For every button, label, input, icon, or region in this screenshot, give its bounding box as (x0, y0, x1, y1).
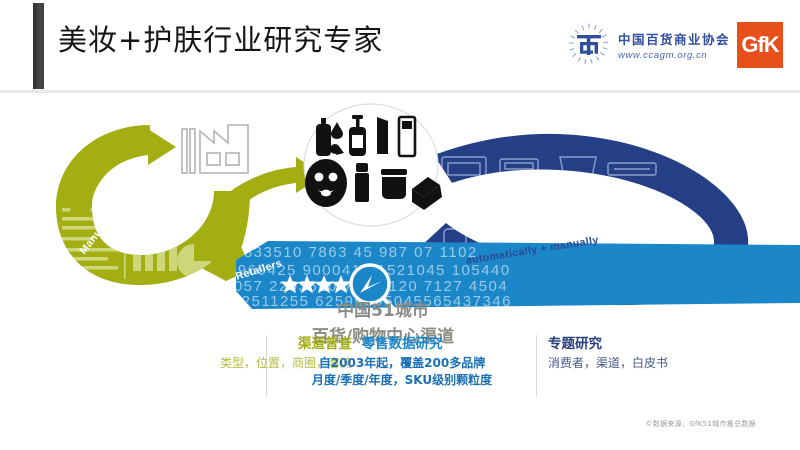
face-mask-icon (305, 159, 347, 207)
gfk-label: GfK (741, 32, 778, 58)
legend-body-retail-data-line2: 月度/季度/年度，SKU级别颗粒度 (278, 372, 526, 389)
radio-icon (486, 199, 532, 227)
slide-header: 美妆+护肤行业研究专家 (0, 0, 800, 93)
footer-source-text: ©数据来源：GfK51城市推总数据 (646, 420, 757, 428)
hair-dryer-icon (644, 199, 676, 245)
gfk-logo: GfK (737, 22, 783, 68)
ccagm-text-block: 中国百货商业协会 www.ccagm.org.cn (618, 29, 730, 61)
footer-source: ©数据来源：GfK51城市推总数据 (0, 413, 800, 431)
legend-heading-special-study: 专题研究 (548, 333, 788, 355)
slide-root: 美妆+护肤行业研究专家 (0, 0, 800, 450)
legend-body-special-study: 消费者，渠道，白皮书 (548, 355, 788, 372)
page-title: 美妆+护肤行业研究专家 (58, 20, 383, 60)
centre-caption-line1: 中国51城市 (288, 298, 478, 324)
header-divider (0, 90, 800, 93)
lipstick-bar-icon (377, 117, 388, 154)
pie-chart-icon (177, 244, 211, 278)
legend-column-retail-data: 零售数据研究 自2003年起，覆盖200多品牌 月度/季度/年度，SKU级别颗粒… (278, 333, 526, 389)
ccagm-url: www.ccagm.org.cn (618, 50, 730, 61)
ccagm-name: 中国百货商业协会 (618, 29, 730, 48)
factory-icon (182, 125, 248, 173)
legend-divider-2 (536, 335, 537, 397)
title-accent-bar (33, 3, 44, 89)
lipstick-tube-icon (355, 163, 369, 202)
process-diagram: 9833510 7863 45 987 07 1102 9969425 9000… (0, 95, 800, 330)
legend-body-retail-data-line1: 自2003年起，覆盖200多品牌 (278, 355, 526, 372)
mixer-icon (584, 191, 618, 233)
legend-heading-retail-data: 零售数据研究 (278, 333, 526, 355)
legend-column-special-study: 专题研究 消费者，渠道，白皮书 (548, 333, 788, 372)
logo-group: 中国百货商业协会 www.ccagm.org.cn GfK (566, 18, 778, 72)
bar-chart-icon (133, 205, 171, 231)
legend-row: 渠道普查 类型，位置，商圈，客流 零售数据研究 自2003年起，覆盖200多品牌… (0, 333, 800, 405)
ccagm-logo: 中国百货商业协会 www.ccagm.org.cn (566, 22, 730, 68)
ccagm-seal-icon (566, 22, 612, 68)
centre-product-circle (304, 104, 442, 226)
cream-jar-icon (381, 169, 407, 199)
svg-text:9833510 7863 45 987 07 1102: 9833510 7863 45 987 07 1102 (234, 244, 478, 261)
